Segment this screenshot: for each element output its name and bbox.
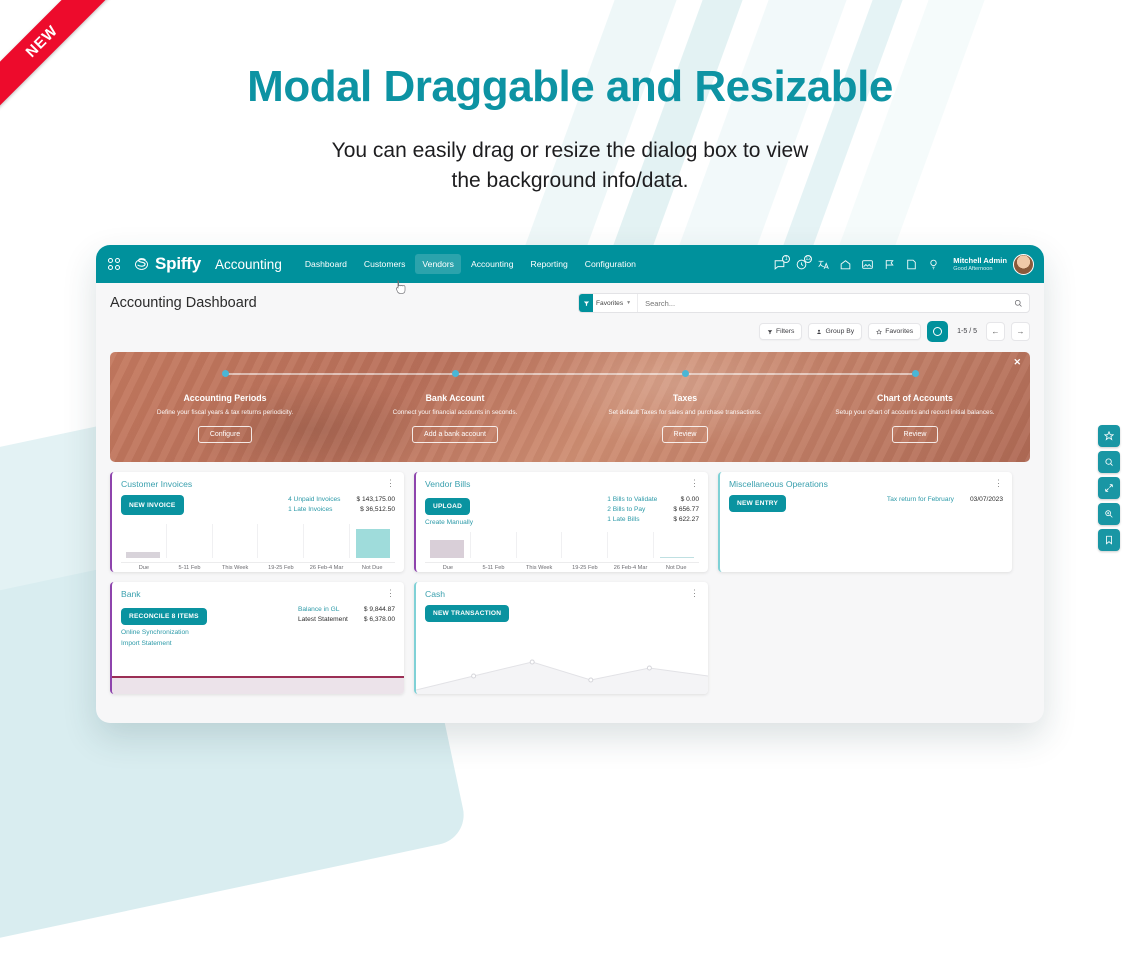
step-dot: [912, 370, 919, 377]
activity-badge: 12: [804, 255, 812, 263]
axis-tick: This Week: [212, 563, 258, 571]
step-desc: Set default Taxes for sales and purchase…: [584, 408, 786, 417]
stat-label[interactable]: Balance in GL: [298, 605, 348, 615]
bills-chart-axis: Due 5-11 Feb This Week 19-25 Feb 26 Feb-…: [425, 562, 699, 571]
page-subtitle: You can easily drag or resize the dialog…: [0, 136, 1140, 196]
axis-tick: 26 Feb-4 Mar: [608, 563, 654, 571]
onboarding-step-accounting-periods: Accounting Periods Define your fiscal ye…: [110, 368, 340, 462]
nav-menu: Dashboard Customers Vendors Accounting R…: [298, 254, 643, 274]
view-controls: Filters Group By Favorites 1-5 / 5 ← →: [110, 321, 1030, 342]
card-menu-icon[interactable]: ⋮: [386, 481, 395, 486]
messages-icon[interactable]: 1: [773, 258, 786, 271]
card-cash: Cash ⋮ NEW TRANSACTION: [414, 582, 708, 694]
stat-value: $ 656.77: [673, 505, 699, 515]
cash-area-chart: [416, 648, 708, 694]
new-entry-button[interactable]: NEW ENTRY: [729, 495, 786, 512]
headline-block: Modal Draggable and Resizable You can ea…: [0, 0, 1140, 196]
app-name: Accounting: [215, 257, 282, 272]
axis-tick: Not Due: [349, 563, 395, 571]
stat-value: $ 6,378.00: [364, 615, 395, 625]
subtitle-line-1: You can easily drag or resize the dialog…: [332, 139, 809, 162]
brand-logo[interactable]: Spiffy: [133, 254, 201, 274]
filter-icon: [767, 329, 773, 335]
star-icon: [876, 329, 882, 335]
card-title: Customer Invoices: [121, 479, 192, 489]
control-bar: Accounting Dashboard Favorites ▼ Filters: [96, 283, 1044, 342]
avatar[interactable]: [1013, 254, 1034, 275]
translate-icon[interactable]: [817, 258, 830, 271]
stat-label[interactable]: 1 Bills to Validate: [607, 495, 657, 505]
activity-icon[interactable]: 12: [795, 258, 808, 271]
stat-label[interactable]: 1 Late Bills: [607, 515, 657, 525]
messages-badge: 1: [782, 255, 790, 263]
bank-chart-footer: [112, 678, 404, 694]
review-taxes-button[interactable]: Review: [662, 426, 709, 443]
stat-label: Latest Statement: [298, 615, 348, 625]
invoices-chart-axis: Due 5-11 Feb This Week 19-25 Feb 26 Feb-…: [121, 562, 395, 571]
bulb-icon[interactable]: [927, 258, 940, 271]
axis-tick: 5-11 Feb: [167, 563, 213, 571]
axis-tick: Due: [121, 563, 167, 571]
pagination-count: 1-5 / 5: [954, 328, 980, 335]
axis-tick: 5-11 Feb: [471, 563, 517, 571]
user-greeting: Good Afternoon: [953, 266, 1007, 272]
step-dot: [682, 370, 689, 377]
step-title: Chart of Accounts: [814, 393, 1016, 403]
dashboard-cards: Customer Invoices ⋮ NEW INVOICE 4 Unpaid…: [96, 462, 1044, 694]
onboarding-step-taxes: Taxes Set default Taxes for sales and pu…: [570, 368, 800, 462]
axis-tick: Due: [425, 563, 471, 571]
card-customer-invoices: Customer Invoices ⋮ NEW INVOICE 4 Unpaid…: [110, 472, 404, 572]
step-dot: [222, 370, 229, 377]
misc-entry-date: 03/07/2023: [970, 495, 1003, 505]
onboarding-step-bank-account: Bank Account Connect your financial acco…: [340, 368, 570, 462]
spiffy-logo-icon: [133, 256, 150, 273]
nav-item-vendors[interactable]: Vendors: [415, 254, 461, 274]
axis-tick: Not Due: [653, 563, 699, 571]
upload-button[interactable]: UPLOAD: [425, 498, 470, 515]
search-input[interactable]: [638, 299, 1014, 308]
onboarding-steps: Accounting Periods Define your fiscal ye…: [110, 352, 1030, 462]
import-statement-link[interactable]: Import Statement: [121, 640, 207, 647]
chevron-down-icon: ▼: [626, 300, 631, 306]
kanban-view-icon[interactable]: [927, 321, 948, 342]
stat-value: $ 36,512.50: [356, 505, 395, 515]
mouse-cursor: [393, 278, 407, 296]
favorites-filter-chip[interactable]: Favorites ▼: [579, 294, 638, 312]
search-icon[interactable]: [1098, 451, 1120, 473]
groupby-icon: [816, 329, 822, 335]
step-desc: Define your fiscal years & tax returns p…: [124, 408, 326, 417]
flag-icon[interactable]: [883, 258, 896, 271]
user-name: Mitchell Admin: [953, 256, 1007, 265]
review-chart-button[interactable]: Review: [892, 426, 939, 443]
search-icon[interactable]: [1014, 299, 1023, 308]
stat-label[interactable]: 1 Late Invoices: [288, 505, 340, 515]
card-bank: Bank ⋮ RECONCILE 8 ITEMS Online Synchron…: [110, 582, 404, 694]
page-title: Modal Draggable and Resizable: [0, 62, 1140, 112]
search-bar[interactable]: Favorites ▼: [578, 293, 1030, 313]
card-menu-icon[interactable]: ⋮: [690, 591, 699, 596]
card-title: Cash: [425, 589, 445, 599]
favorites-button[interactable]: Favorites: [868, 323, 921, 340]
banner-close-icon[interactable]: ✕: [1013, 357, 1021, 368]
top-navbar: Spiffy Accounting Dashboard Customers Ve…: [96, 245, 1044, 283]
filters-label: Filters: [776, 328, 795, 335]
groupby-label: Group By: [825, 328, 854, 335]
dashboard-title: Accounting Dashboard: [110, 295, 257, 311]
next-page-button[interactable]: →: [1011, 322, 1030, 341]
filter-icon: [579, 294, 593, 312]
online-sync-link[interactable]: Online Synchronization: [121, 629, 207, 636]
card-menu-icon[interactable]: ⋮: [386, 591, 395, 596]
bills-bar-chart: [425, 532, 699, 558]
invoices-bar-chart: [121, 524, 395, 558]
stat-value: $ 622.27: [673, 515, 699, 525]
step-title: Accounting Periods: [124, 393, 326, 403]
bookmark-icon[interactable]: [1098, 529, 1120, 551]
nav-item-dashboard[interactable]: Dashboard: [298, 254, 354, 274]
stat-label[interactable]: 4 Unpaid Invoices: [288, 495, 340, 505]
brand-name: Spiffy: [155, 254, 201, 274]
card-title: Bank: [121, 589, 141, 599]
nav-item-configuration[interactable]: Configuration: [578, 254, 643, 274]
configure-button[interactable]: Configure: [198, 426, 252, 443]
apps-grid-icon[interactable]: [108, 258, 121, 270]
home-icon[interactable]: [839, 258, 852, 271]
onboarding-step-chart-of-accounts: Chart of Accounts Setup your chart of ac…: [800, 368, 1030, 462]
step-title: Bank Account: [354, 393, 556, 403]
axis-tick: 19-25 Feb: [562, 563, 608, 571]
stat-label[interactable]: 2 Bills to Pay: [607, 505, 657, 515]
onboarding-banner: ✕ Accounting Periods Define your fiscal …: [110, 352, 1030, 462]
card-title: Vendor Bills: [425, 479, 470, 489]
stat-value: $ 143,175.00: [356, 495, 395, 505]
step-desc: Setup your chart of accounts and record …: [814, 408, 1016, 417]
card-title: Miscellaneous Operations: [729, 479, 828, 489]
card-menu-icon[interactable]: ⋮: [994, 481, 1003, 486]
groupby-button[interactable]: Group By: [808, 323, 862, 340]
prev-page-button[interactable]: ←: [986, 322, 1005, 341]
card-menu-icon[interactable]: ⋮: [690, 481, 699, 486]
nav-item-customers[interactable]: Customers: [357, 254, 413, 274]
step-title: Taxes: [584, 393, 786, 403]
stat-value: $ 0.00: [673, 495, 699, 505]
user-menu[interactable]: Mitchell Admin Good Afternoon: [953, 254, 1034, 275]
reconcile-button[interactable]: RECONCILE 8 ITEMS: [121, 608, 207, 625]
star-icon[interactable]: [1098, 425, 1120, 447]
axis-tick: 26 Feb-4 Mar: [304, 563, 350, 571]
nav-item-accounting[interactable]: Accounting: [464, 254, 521, 274]
axis-tick: This Week: [516, 563, 562, 571]
gallery-icon[interactable]: [861, 258, 874, 271]
create-manually-link[interactable]: Create Manually: [425, 519, 473, 526]
new-invoice-button[interactable]: NEW INVOICE: [121, 495, 184, 515]
new-ribbon: NEW: [0, 0, 120, 120]
resize-icon[interactable]: [1098, 477, 1120, 499]
filters-button[interactable]: Filters: [759, 323, 803, 340]
new-transaction-button[interactable]: NEW TRANSACTION: [425, 605, 509, 622]
card-vendor-bills: Vendor Bills ⋮ UPLOAD Create Manually 1 …: [414, 472, 708, 572]
axis-tick: 19-25 Feb: [258, 563, 304, 571]
add-bank-account-button[interactable]: Add a bank account: [412, 426, 498, 443]
card-misc-operations: Miscellaneous Operations ⋮ NEW ENTRY Tax…: [718, 472, 1012, 572]
side-toolbar: [1098, 425, 1120, 551]
favorites-label: Favorites: [885, 328, 913, 335]
misc-entry-label[interactable]: Tax return for February: [887, 495, 954, 505]
step-dot: [452, 370, 459, 377]
note-icon[interactable]: [905, 258, 918, 271]
zoom-icon[interactable]: [1098, 503, 1120, 525]
step-desc: Connect your financial accounts in secon…: [354, 408, 556, 417]
nav-item-reporting[interactable]: Reporting: [524, 254, 575, 274]
app-window: Spiffy Accounting Dashboard Customers Ve…: [96, 245, 1044, 723]
subtitle-line-2: the background info/data.: [451, 169, 688, 192]
new-ribbon-label: NEW: [0, 0, 120, 120]
stat-value: $ 9,844.87: [364, 605, 395, 615]
navbar-right-tools: 1 12: [773, 254, 1034, 275]
favorites-chip-label: Favorites: [596, 300, 623, 307]
